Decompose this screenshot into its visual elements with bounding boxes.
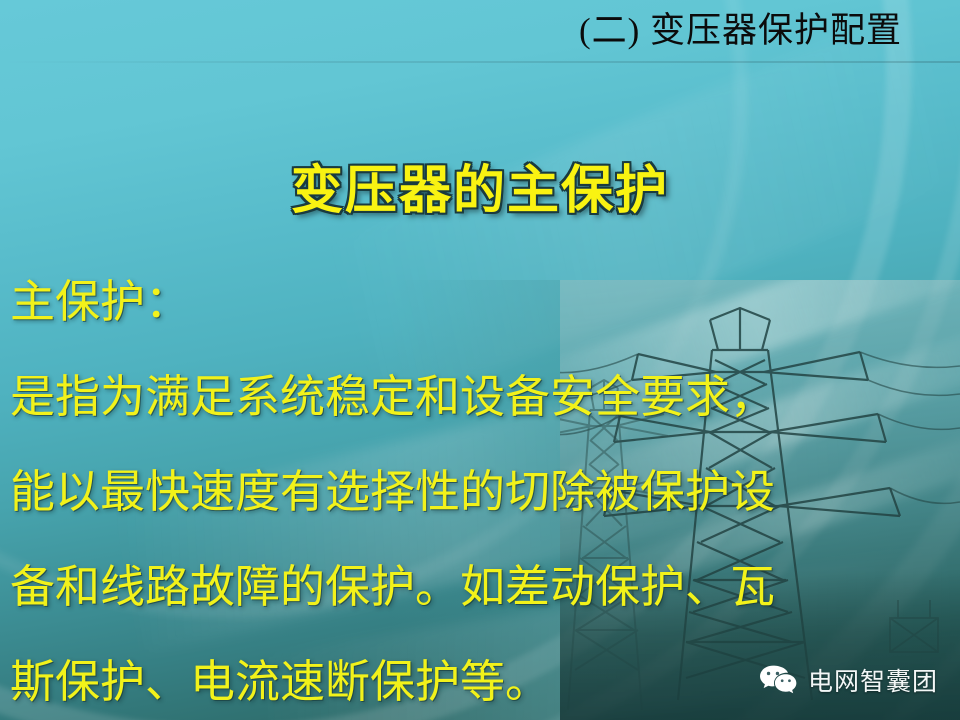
watermark-label: 电网智囊团 [808, 662, 938, 698]
body-line: 是指为满足系统稳定和设备安全要求， [10, 350, 860, 445]
slide-header: (二) 变压器保护配置 [0, 0, 960, 62]
watermark: 电网智囊团 [758, 662, 938, 698]
slide-body: 主保护： 是指为满足系统稳定和设备安全要求， 能以最快速度有选择性的切除被保护设… [10, 255, 860, 720]
body-line: 备和线路故障的保护。如差动保护、瓦 [10, 540, 860, 635]
body-line: 斯保护、电流速断保护等。 [10, 635, 860, 720]
presentation-slide: (二) 变压器保护配置 变压器的主保护 主保护： 是指为满足系统稳定和设备安全要… [0, 0, 960, 720]
slide-title: 变压器的主保护 [0, 160, 960, 222]
wechat-icon [758, 663, 798, 697]
body-line: 能以最快速度有选择性的切除被保护设 [10, 445, 860, 540]
body-line: 主保护： [10, 255, 860, 350]
header-title: (二) 变压器保护配置 [579, 8, 902, 54]
header-divider [0, 61, 960, 63]
